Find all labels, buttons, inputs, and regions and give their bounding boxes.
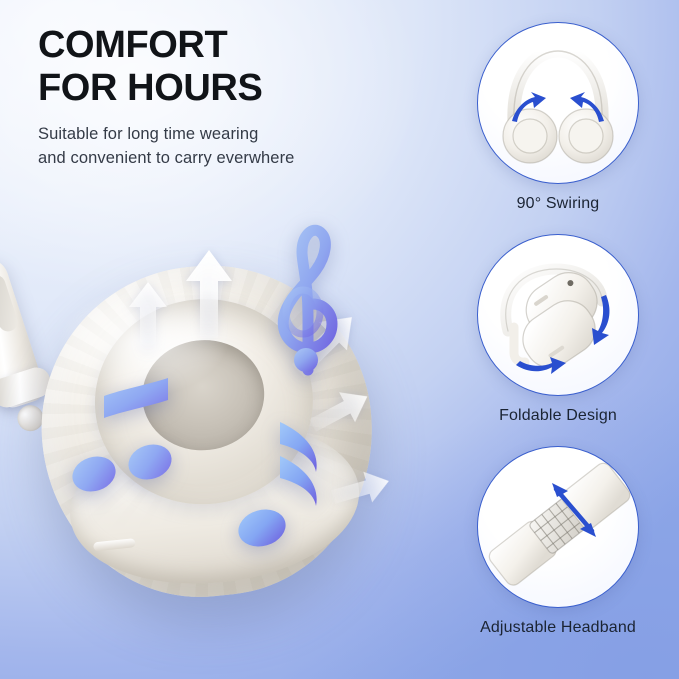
sixteenth-note-glyph [236,410,346,558]
subheadline-line-1: Suitable for long time wearing [38,123,438,147]
feature-label: 90° Swiring [455,195,661,213]
feature-circle [477,234,639,396]
feature-label: Adjustable Headband [455,619,661,637]
product-feature-poster: COMFORT FOR HOURS Suitable for long time… [0,0,679,679]
headband-slider-icon [478,447,638,607]
page-title: COMFORT FOR HOURS [38,24,438,109]
headband-slot [0,273,20,334]
product-photo [0,232,426,652]
feature-circle [477,22,639,184]
treble-clef-glyph [262,220,354,380]
headphones-swivel-icon [478,23,638,183]
eighth-note-pair-glyph [72,370,194,510]
headline-line-2: FOR HOURS [38,67,438,110]
feature-panel-list: 90° Swiring [455,22,661,658]
feature-panel-swiveling[interactable]: 90° Swiring [455,22,661,213]
feature-panel-adjustable[interactable]: Adjustable Headband [455,446,661,637]
subheadline-line-2: and convenient to carry everwhere [38,147,438,171]
headline-block: COMFORT FOR HOURS Suitable for long time… [38,24,438,171]
feature-circle [477,446,639,608]
airflow-arrow [182,248,236,340]
airflow-arrow [126,280,170,354]
feature-label: Foldable Design [455,407,661,425]
subheadline: Suitable for long time wearing and conve… [38,123,438,171]
feature-panel-foldable[interactable]: Foldable Design [455,234,661,425]
headline-line-1: COMFORT [38,24,227,66]
headphones-folded-icon [478,235,638,395]
